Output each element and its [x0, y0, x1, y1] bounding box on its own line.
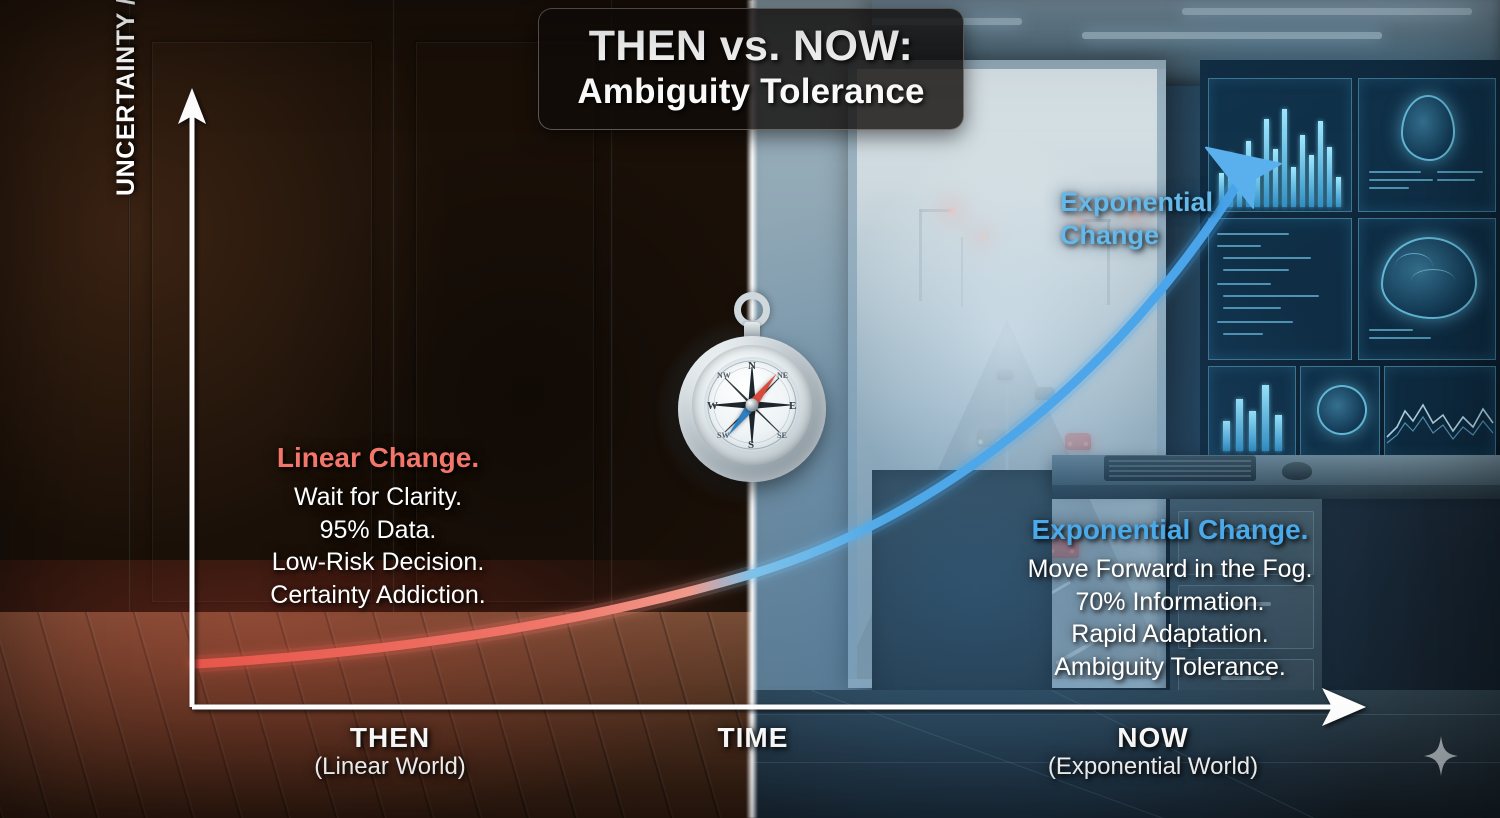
now-text-block: Exponential Change. Move Forward in the …: [1000, 512, 1340, 683]
compass-needle-pivot: [746, 399, 759, 412]
keyboard: [1104, 455, 1256, 481]
compass-illustration: N E S W NW NE SW SE: [672, 292, 832, 482]
compass-label-east: E: [789, 400, 796, 412]
callout-line-1: Exponential: [1060, 186, 1280, 219]
ceiling-light-strip: [1182, 8, 1472, 15]
x-axis-label-text: TIME: [660, 722, 846, 753]
sparkle-icon: [1424, 736, 1458, 776]
callout-line-2: Change: [1060, 219, 1280, 252]
exponential-change-callout: Exponential Change: [1060, 186, 1280, 252]
compass-case: N E S W NW NE SW SE: [678, 336, 826, 482]
car-taillight: [1066, 441, 1074, 447]
wood-floor: [0, 612, 752, 818]
now-line-4: Ambiguity Tolerance.: [1000, 651, 1340, 684]
x-tick-now: NOW (Exponential World): [980, 722, 1326, 782]
now-heading: Exponential Change.: [1000, 512, 1340, 548]
title-line-2: Ambiguity Tolerance: [577, 72, 924, 112]
ceiling-light-strip: [1082, 32, 1382, 39]
car-headlight: [976, 439, 985, 445]
now-line-2: 70% Information.: [1000, 586, 1340, 619]
compass-face: N E S W NW NE SW SE: [704, 357, 800, 453]
title-card: THEN vs. NOW: Ambiguity Tolerance: [538, 8, 964, 130]
then-line-2: 95% Data.: [218, 514, 538, 547]
compass-label-south: S: [748, 439, 754, 451]
holo-virus-panel: [1300, 366, 1380, 456]
streetlamp-pole: [961, 237, 963, 307]
holo-line-chart-panel: [1384, 366, 1496, 456]
holo-waveform: [1385, 397, 1495, 445]
compass-label-north: N: [748, 360, 756, 372]
holo-brain-panel: [1358, 218, 1496, 360]
streetlamp-glow: [977, 232, 987, 242]
then-line-3: Low-Risk Decision.: [218, 546, 538, 579]
computer-mouse: [1282, 462, 1312, 480]
x-tick-then-main: THEN: [250, 722, 530, 753]
x-tick-then: THEN (Linear World): [250, 722, 530, 782]
then-line-1: Wait for Clarity.: [218, 481, 538, 514]
x-axis-label: TIME: [660, 722, 846, 753]
holo-scan-panel: [1358, 78, 1496, 212]
compass-bezel: N E S W NW NE SW SE: [692, 345, 812, 465]
x-tick-now-main: NOW: [980, 722, 1326, 753]
compass-label-southeast: SE: [777, 431, 787, 440]
now-line-1: Move Forward in the Fog.: [1000, 553, 1340, 586]
car: [997, 369, 1013, 380]
compass-label-west: W: [707, 400, 718, 412]
car: [1035, 387, 1055, 400]
car-headlight: [995, 439, 1004, 445]
brain-scan-icon: [1401, 95, 1455, 161]
cell-scan-icon: [1317, 385, 1367, 435]
infographic-canvas: N E S W NW NE SW SE THEN vs. NOW: Ambigu…: [0, 0, 1500, 818]
now-line-3: Rapid Adaptation.: [1000, 618, 1340, 651]
compass-label-northwest: NW: [717, 371, 731, 380]
then-heading: Linear Change.: [218, 440, 538, 476]
then-text-block: Linear Change. Wait for Clarity. 95% Dat…: [218, 440, 538, 611]
y-axis-label: UNCERTAINTY / CHANGE SPEED: [112, 0, 141, 196]
car-taillight: [1082, 441, 1090, 447]
holo-mini-bars-panel: [1208, 366, 1296, 456]
desk-edge: [1052, 485, 1500, 499]
holographic-dashboard: [1200, 60, 1500, 460]
then-line-4: Certainty Addiction.: [218, 579, 538, 612]
x-tick-then-sub: (Linear World): [250, 753, 530, 782]
x-tick-now-sub: (Exponential World): [980, 753, 1326, 782]
streetlamp-glow: [946, 204, 959, 217]
title-line-1: THEN vs. NOW:: [589, 25, 914, 69]
streetlamp-pole: [919, 209, 922, 301]
